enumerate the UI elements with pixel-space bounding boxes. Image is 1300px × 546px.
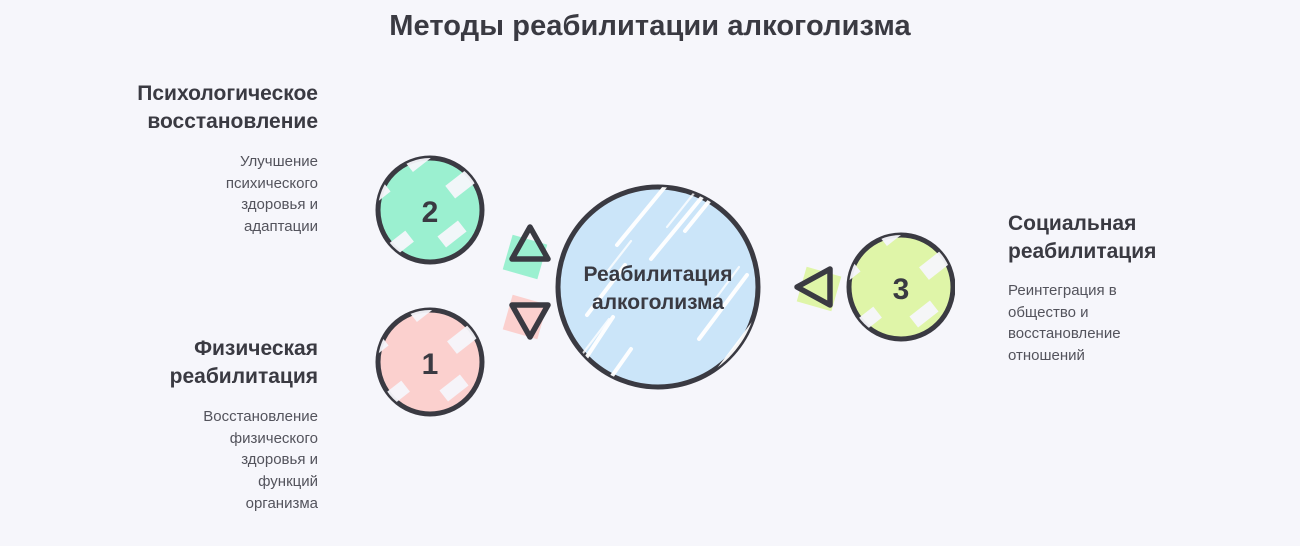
block-physical: Физическая реабилитация Восстановление ф…: [18, 335, 318, 515]
block-physical-body: Восстановление физического здоровья и фу…: [18, 406, 318, 515]
body-line-4: отношений: [1008, 345, 1268, 367]
arrow-left-lime-icon: [797, 267, 842, 312]
body-line-1: Улучшение: [18, 151, 318, 173]
heading-line-2: восстановление: [18, 108, 318, 136]
body-line-1: Реинтеграция в: [1008, 280, 1268, 302]
node-circle-3[interactable]: 3: [821, 214, 953, 339]
heading-line-2: реабилитация: [18, 363, 318, 391]
center-label-line-2: алкоголизма: [592, 291, 724, 314]
block-psychological-heading: Психологическое восстановление: [18, 80, 318, 136]
circle-1-number: 1: [422, 348, 439, 381]
circle-3-number: 3: [893, 273, 910, 306]
block-social-body: Реинтеграция в общество и восстановление…: [1008, 280, 1268, 367]
center-label-line-1: Реабилитация: [583, 263, 732, 286]
block-physical-heading: Физическая реабилитация: [18, 335, 318, 391]
page-title: Методы реабилитации алкоголизма: [0, 10, 1300, 43]
block-psychological-body: Улучшение психического здоровья и адапта…: [18, 151, 318, 238]
heading-line-2: реабилитация: [1008, 238, 1268, 266]
body-line-4: функций: [18, 471, 318, 493]
circle-2-number: 2: [422, 196, 439, 229]
body-line-3: здоровья и: [18, 449, 318, 471]
heading-line-1: Психологическое: [18, 80, 318, 108]
arrow-down-pink-icon: [503, 295, 548, 340]
body-line-1: Восстановление: [18, 406, 318, 428]
body-line-2: психического: [18, 173, 318, 195]
infographic-canvas: Методы реабилитации алкоголизма Психолог…: [0, 0, 1300, 546]
block-psychological: Психологическое восстановление Улучшение…: [18, 80, 318, 238]
heading-line-1: Социальная: [1008, 210, 1268, 238]
body-line-5: организма: [18, 493, 318, 515]
heading-line-1: Физическая: [18, 335, 318, 363]
body-line-4: адаптации: [18, 216, 318, 238]
diagram-svg: Реабилитация алкоголизма 2: [355, 135, 955, 435]
block-social-heading: Социальная реабилитация: [1008, 210, 1268, 266]
body-line-3: здоровья и: [18, 194, 318, 216]
node-circle-2[interactable]: 2: [355, 140, 482, 262]
body-line-3: восстановление: [1008, 323, 1268, 345]
node-circle-1[interactable]: 1: [355, 290, 482, 414]
block-social: Социальная реабилитация Реинтеграция в о…: [1008, 210, 1268, 367]
center-node[interactable]: Реабилитация алкоголизма: [558, 177, 758, 403]
body-line-2: общество и: [1008, 302, 1268, 324]
body-line-2: физического: [18, 428, 318, 450]
arrow-up-mint-icon: [503, 227, 548, 279]
